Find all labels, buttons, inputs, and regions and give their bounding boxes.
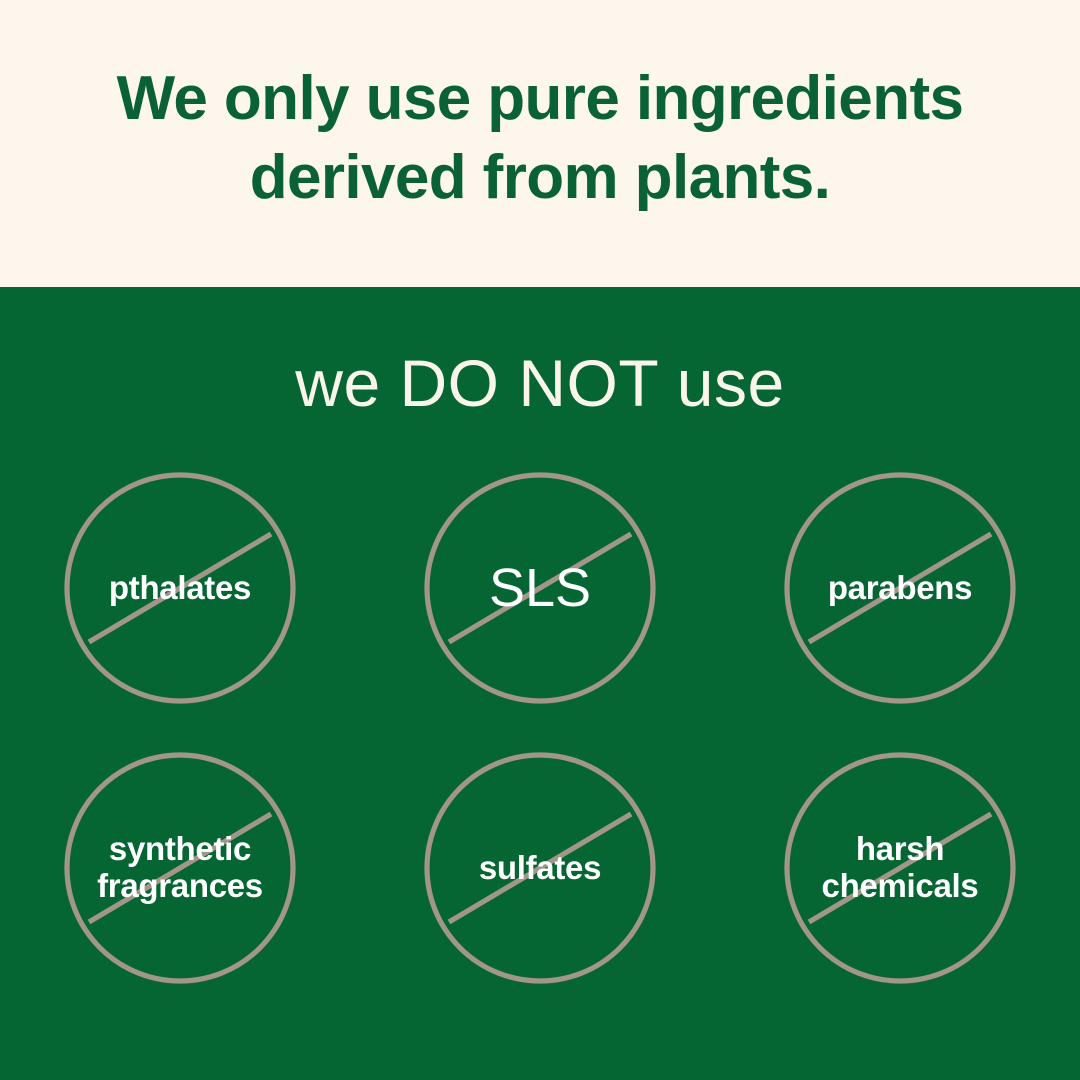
no-symbol-icon bbox=[64, 752, 296, 984]
headline-line-2: derived from plants. bbox=[117, 139, 964, 217]
no-symbol-icon bbox=[64, 472, 296, 704]
section-subheading: we DO NOT use bbox=[0, 350, 1080, 416]
badge-pthalates: pthalates bbox=[64, 472, 296, 704]
body-area: we DO NOT use pthalates SLS bbox=[0, 287, 1080, 1080]
promo-poster: We only use pure ingredients derived fro… bbox=[0, 0, 1080, 1080]
badge-synthetic-fragrances: synthetic fragrances bbox=[64, 752, 296, 984]
no-symbol-icon bbox=[424, 752, 656, 984]
badge-harsh-chemicals: harsh chemicals bbox=[784, 752, 1016, 984]
header-band: We only use pure ingredients derived fro… bbox=[0, 0, 1080, 287]
badge-sulfates: sulfates bbox=[424, 752, 656, 984]
prohibited-ingredients-grid: pthalates SLS parabe bbox=[0, 472, 1080, 1032]
page-title: We only use pure ingredients derived fro… bbox=[117, 60, 964, 216]
badge-parabens: parabens bbox=[784, 472, 1016, 704]
no-symbol-icon bbox=[784, 472, 1016, 704]
no-symbol-icon bbox=[424, 472, 656, 704]
headline-line-1: We only use pure ingredients bbox=[117, 60, 964, 138]
badge-sls: SLS bbox=[424, 472, 656, 704]
no-symbol-icon bbox=[784, 752, 1016, 984]
